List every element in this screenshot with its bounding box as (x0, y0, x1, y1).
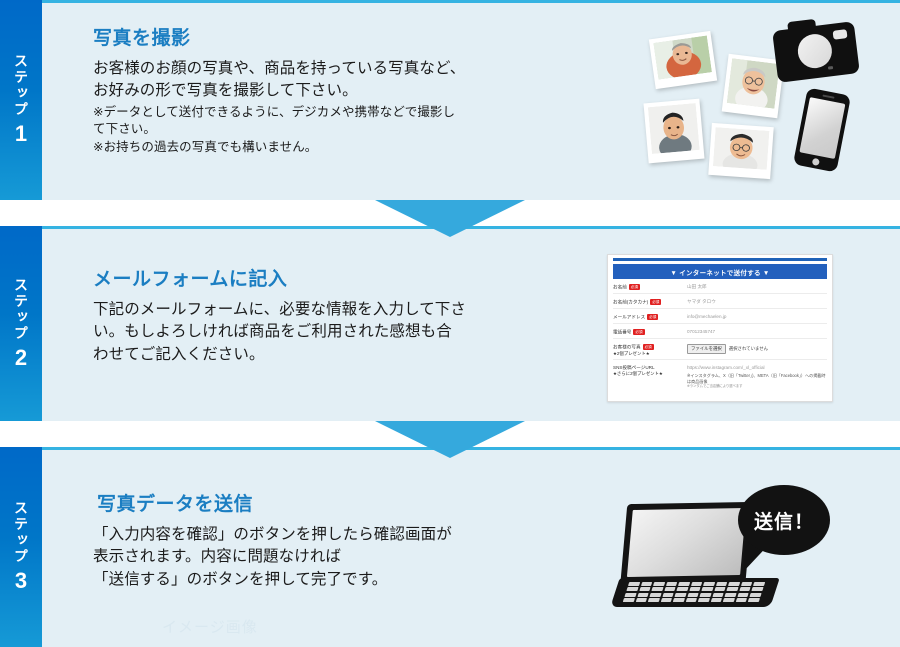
form-label-photo-upload-text: お客様の写真 (613, 345, 641, 350)
step-body-line-3-2: 表示されます。内容に問題なければ (93, 546, 573, 568)
file-upload-line: ファイルを選択 選択されていません (687, 344, 827, 354)
form-row-name-kana: お名前(カタカナ)必須 ヤマダ タロウ (613, 294, 827, 309)
face-image-4 (713, 127, 770, 170)
step-body-line-1-1: お客様のお顔の写真や、商品を持っている写真など、 (93, 58, 573, 80)
speech-bubble-text: 送信！ (754, 507, 814, 534)
choose-file-button[interactable]: ファイルを選択 (687, 344, 726, 354)
step-body-line-3-1: 「入力内容を確認」のボタンを押したら確認画面が (93, 524, 573, 546)
smartphone-icon (793, 88, 851, 173)
step-title-3: 写真データを送信 (93, 494, 573, 517)
form-label-name: お名前必須 (613, 282, 687, 291)
step-body-line-2-1: 下記のメールフォームに、必要な情報を入力して下さ (93, 299, 573, 321)
photo-face-2 (727, 58, 780, 109)
step-panel-1: ステップ 1 写真を撮影 お客様のお顔の写真や、商品を持っている写真など、 お好… (0, 0, 900, 200)
laptop-illustration: 送信！ (610, 485, 860, 620)
form-label-email-text: メールアドレス (613, 315, 645, 320)
camera-icon (772, 21, 860, 83)
laptop-screen-icon (620, 502, 752, 582)
camera-detail-icon (828, 66, 833, 70)
form-value-photo-upload: ファイルを選択 選択されていません (687, 342, 827, 354)
form-label-name-text: お名前 (613, 285, 627, 290)
required-badge-email: 必須 (647, 314, 658, 320)
step-word-3: ステップ (14, 501, 28, 565)
form-gift-photo: ★2個プレゼント★ (613, 351, 687, 357)
phone-speaker-icon (822, 94, 834, 98)
step-sidebar-label-2: ステップ 2 (0, 277, 42, 369)
form-label-phone: 電話番号必須 (613, 327, 687, 336)
form-top-rule (613, 258, 827, 261)
watermark-text: イメージ画像 (162, 616, 258, 637)
form-label-sns-url-text: SNS投稿ページURL (613, 365, 655, 370)
photo-face-3 (648, 103, 700, 154)
polaroid-photo-3 (643, 99, 704, 164)
step-body-line-2-2: い。もしよろしければ商品をご利用された感想も合 (93, 321, 573, 343)
photo-collage-illustration (632, 13, 900, 193)
form-value-phone[interactable]: 07012345747 (687, 327, 827, 335)
required-badge-name-kana: 必須 (650, 299, 661, 305)
face-image-2 (727, 58, 780, 109)
sns-note-text: ※インスタグラム、X（旧「Twitter」)、META（旧「Facebook」）… (687, 373, 827, 384)
polaroid-photo-2 (722, 54, 785, 118)
mail-form-screenshot: ▼ インターネットで送付する ▼ お名前必須 山田 太郎 お名前(カタカナ)必須… (607, 254, 833, 402)
photo-face-4 (713, 127, 770, 170)
step-title-1: 写真を撮影 (93, 28, 573, 51)
form-value-name[interactable]: 山田 太郎 (687, 282, 827, 290)
form-value-email[interactable]: info@mechaelen.jp (687, 312, 827, 320)
step-text-block-2: メールフォームに記入 下記のメールフォームに、必要な情報を入力して下さ い。もし… (93, 269, 573, 366)
step-word-2: ステップ (14, 277, 28, 341)
form-row-name: お名前必須 山田 太郎 (613, 279, 827, 294)
step-note-1-3: ※お持ちの過去の写真でも構いません。 (93, 139, 573, 156)
step-note-1-1: ※データとして送付できるように、デジカメや携帯などで撮影し (93, 104, 573, 121)
form-header-banner: ▼ インターネットで送付する ▼ (613, 264, 827, 279)
form-row-sns-url: SNS投稿ページURL ★さらに2個プレゼント★ https://www.ins… (613, 360, 827, 391)
step-body-line-2-3: わせてご記入ください。 (93, 344, 573, 366)
phone-screen-icon (799, 97, 845, 159)
step-content-1: 写真を撮影 お客様のお顔の写真や、商品を持っている写真など、 お好みの形で写真を… (42, 0, 900, 200)
camera-lens-icon (796, 32, 834, 70)
step-body-line-1-2: お好みの形で写真を撮影して下さい。 (93, 80, 573, 102)
step-sidebar-label-1: ステップ 1 (0, 54, 42, 146)
form-row-photo-upload: お客様の写真必須 ★2個プレゼント★ ファイルを選択 選択されていません (613, 339, 827, 360)
step-number-1: 1 (15, 122, 27, 146)
step-text-block-1: 写真を撮影 お客様のお顔の写真や、商品を持っている写真など、 お好みの形で写真を… (93, 28, 573, 155)
form-row-phone: 電話番号必須 07012345747 (613, 324, 827, 339)
required-badge-name: 必須 (629, 284, 640, 290)
sns-url-input[interactable]: https://www.instagram.com/_xl_official (687, 365, 827, 373)
form-row-email: メールアドレス必須 info@mechaelen.jp (613, 309, 827, 324)
form-gift-sns: ★さらに2個プレゼント★ (613, 371, 687, 377)
step-word-1: ステップ (14, 54, 28, 118)
camera-flash-icon (833, 29, 848, 40)
form-label-phone-text: 電話番号 (613, 330, 631, 335)
step-text-block-3: 写真データを送信 「入力内容を確認」のボタンを押したら確認画面が 表示されます。… (93, 494, 573, 591)
step-sidebar-2: ステップ 2 (0, 226, 42, 421)
file-status-text: 選択されていません (729, 346, 768, 352)
required-badge-photo: 必須 (643, 344, 654, 350)
step-number-2: 2 (15, 345, 27, 369)
laptop-keyboard-icon (623, 582, 765, 602)
step-note-1-2: て下さい。 (93, 121, 573, 138)
sns-note-small-text: ※ランダムでご当店舗により選べます (687, 384, 827, 388)
step-title-2: メールフォームに記入 (93, 269, 573, 292)
form-label-name-kana: お名前(カタカナ)必須 (613, 297, 687, 306)
form-label-sns-url: SNS投稿ページURL ★さらに2個プレゼント★ (613, 363, 687, 377)
step-body-line-3-3: 「送信する」のボタンを押して完了です。 (93, 569, 573, 591)
step-sidebar-3: ステップ 3 (0, 447, 42, 647)
step-sidebar-label-3: ステップ 3 (0, 501, 42, 593)
form-label-photo-upload: お客様の写真必須 ★2個プレゼント★ (613, 342, 687, 357)
form-label-email: メールアドレス必須 (613, 312, 687, 321)
phone-home-button-icon (812, 158, 820, 166)
laptop-display-icon (627, 508, 746, 577)
polaroid-photo-1 (649, 31, 717, 89)
step-number-3: 3 (15, 569, 27, 593)
required-badge-phone: 必須 (633, 329, 644, 335)
polaroid-photo-4 (708, 123, 773, 179)
face-image-1 (653, 35, 712, 79)
face-image-3 (648, 103, 700, 154)
photo-face-1 (653, 35, 712, 79)
form-value-sns-url: https://www.instagram.com/_xl_official ※… (687, 363, 827, 389)
step-sidebar-1: ステップ 1 (0, 0, 42, 200)
form-value-name-kana[interactable]: ヤマダ タロウ (687, 297, 827, 305)
form-label-name-kana-text: お名前(カタカナ) (613, 300, 648, 305)
speech-bubble: 送信！ (738, 485, 830, 555)
